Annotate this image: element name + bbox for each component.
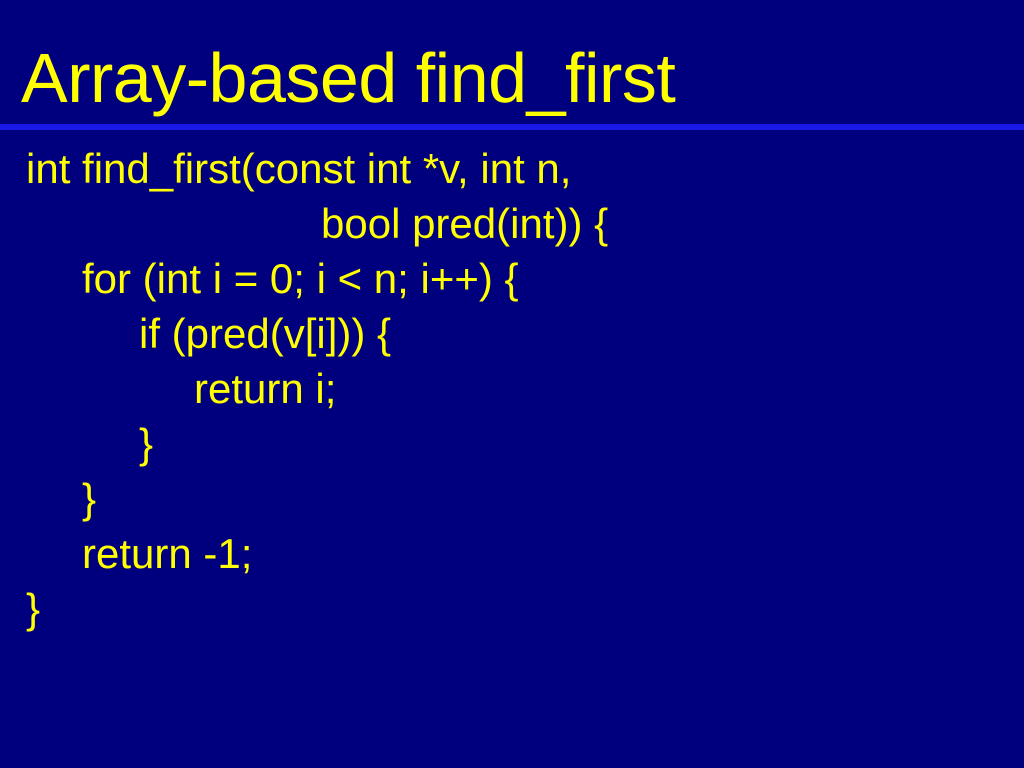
code-line: }: [0, 416, 1024, 471]
code-line: for (int i = 0; i < n; i++) {: [0, 251, 1024, 306]
code-line: if (pred(v[i])) {: [0, 306, 1024, 361]
code-line: return -1;: [0, 526, 1024, 581]
code-line: bool pred(int)) {: [0, 196, 1024, 251]
code-line: }: [0, 581, 1024, 636]
code-line: return i;: [0, 361, 1024, 416]
page-title: Array-based find_first: [21, 38, 1003, 122]
code-block: int find_first(const int *v, int n,bool …: [0, 141, 1024, 636]
code-line: }: [0, 471, 1024, 526]
code-line: int find_first(const int *v, int n,: [0, 141, 1024, 196]
title-divider-rule: [0, 124, 1024, 130]
slide-canvas: Array-based find_first int find_first(co…: [0, 0, 1024, 768]
